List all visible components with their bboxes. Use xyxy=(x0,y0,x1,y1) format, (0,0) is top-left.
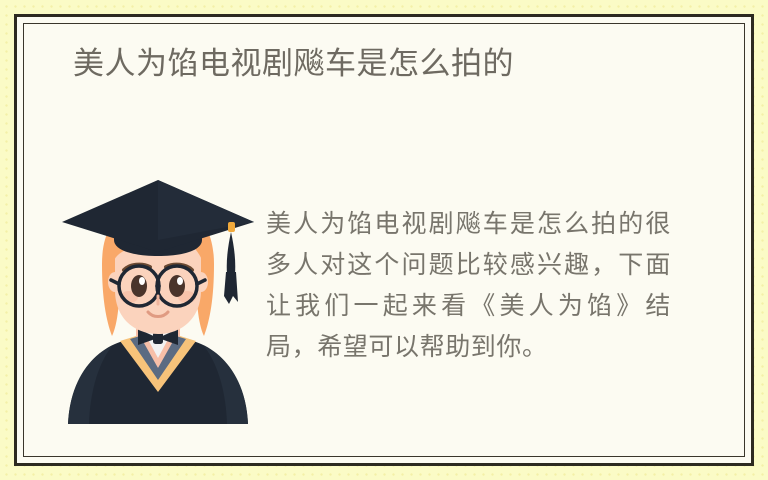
article-card: 美人为馅电视剧飚车是怎么拍的 xyxy=(24,24,744,456)
graduate-student-avatar xyxy=(58,178,258,424)
page-title: 美人为馅电视剧飚车是怎么拍的 xyxy=(73,42,514,86)
article-body: 美人为馅电视剧飚车是怎么拍的很多人对这个问题比较感兴趣，下面让我们一起来看《美人… xyxy=(266,204,671,368)
inner-frame: 美人为馅电视剧飚车是怎么拍的 xyxy=(23,23,745,457)
outer-frame: 美人为馅电视剧飚车是怎么拍的 xyxy=(14,14,754,466)
